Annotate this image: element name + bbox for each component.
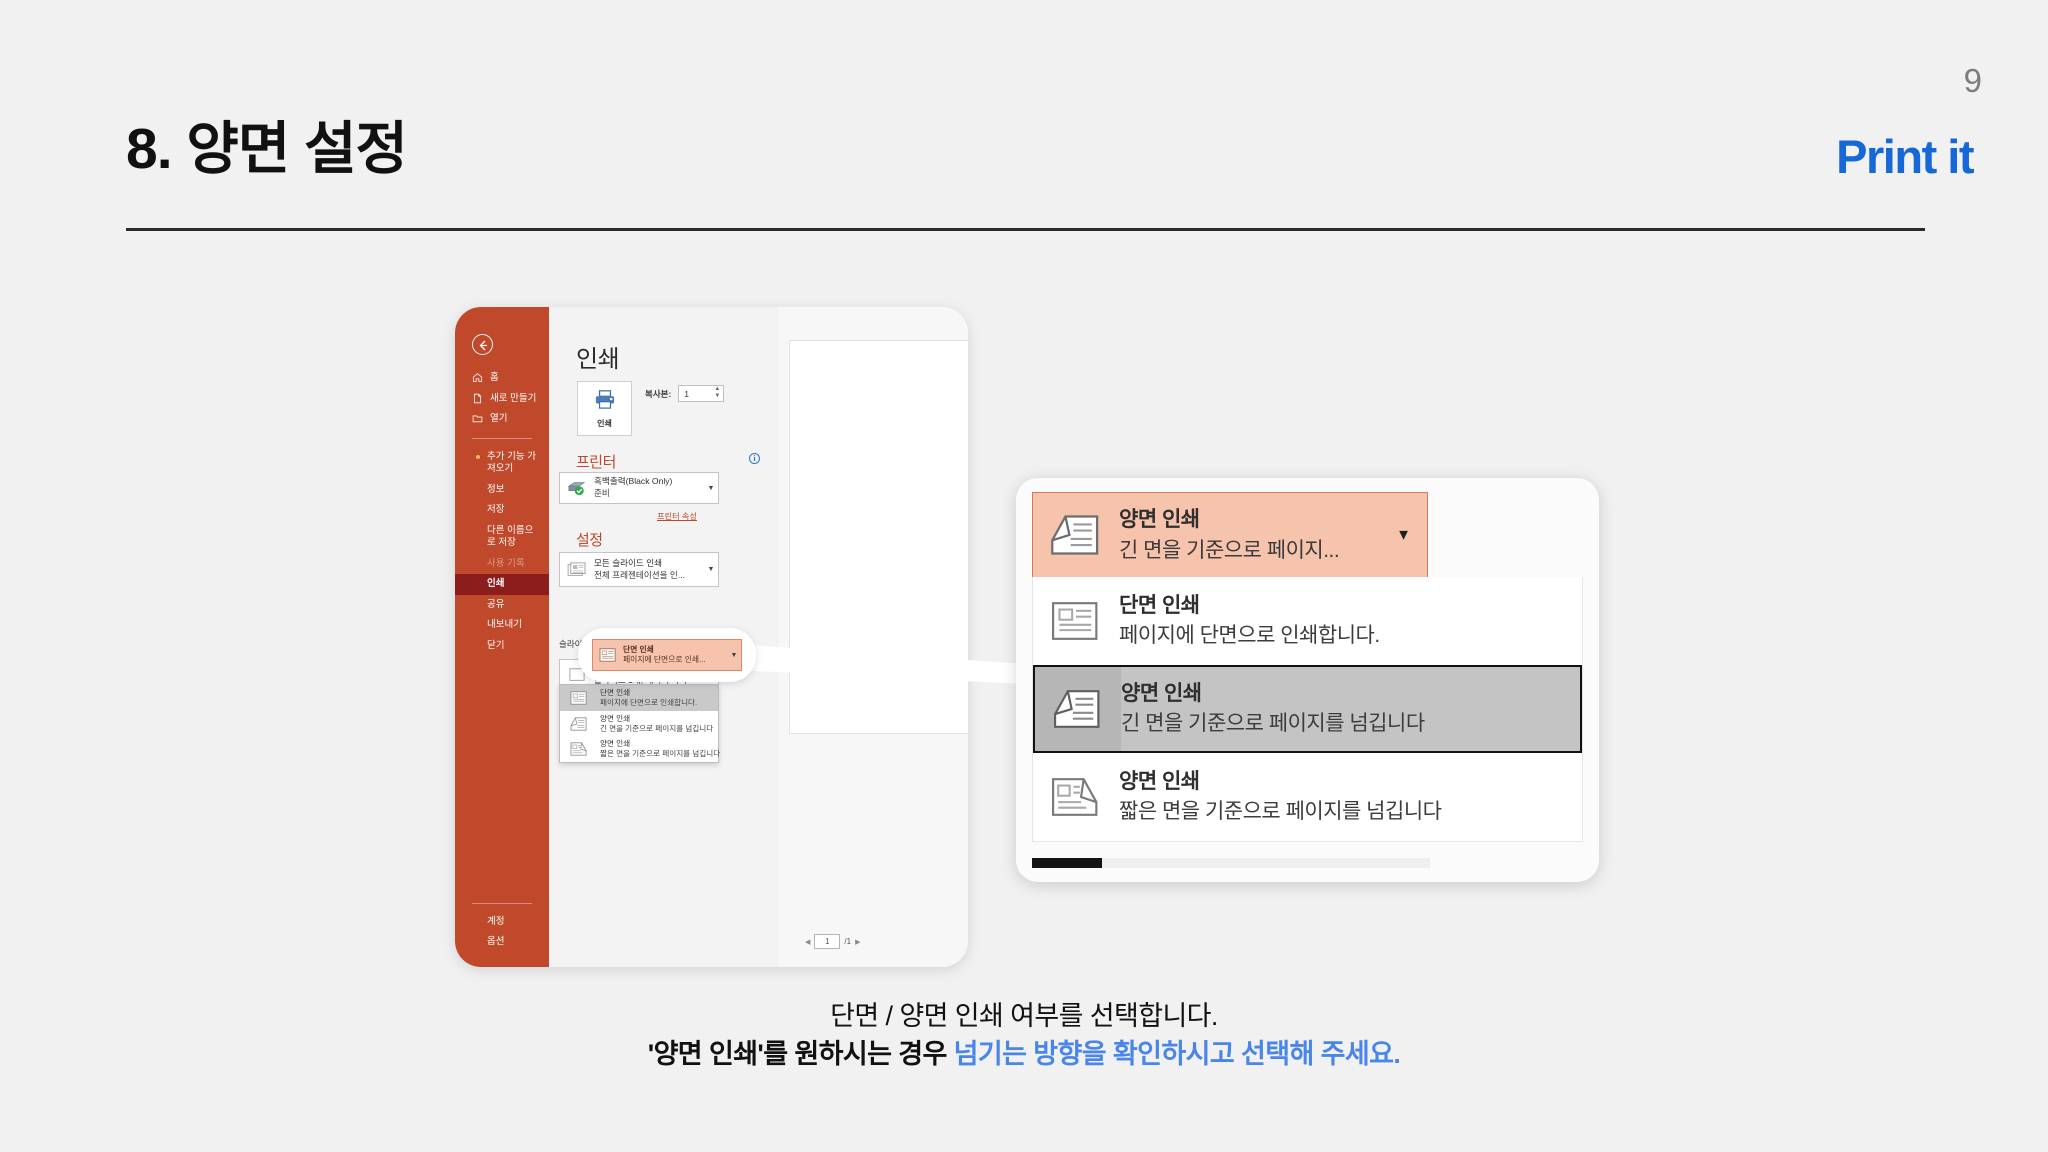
stepper-arrows-icon[interactable]: ▲▼: [714, 387, 720, 399]
horizontal-scrollbar[interactable]: [1032, 858, 1430, 868]
sidebar-item-label: 사용 기록: [487, 558, 525, 571]
print-range-select[interactable]: 모든 슬라이드 인쇄 전체 프레젠테이션을 인... ▼: [559, 552, 719, 587]
printer-section-heading: 프린터: [576, 451, 616, 472]
printer-icon: [594, 389, 616, 414]
prev-page-icon[interactable]: ◀: [805, 938, 810, 946]
option-title: 양면 인쇄: [600, 714, 713, 724]
sidebar-item-home[interactable]: 홈: [455, 368, 549, 389]
option-desc: 긴 면을 기준으로 페이지를 넘깁니다: [600, 724, 713, 734]
option-desc: 페이지에 단면으로 인쇄합니다.: [600, 698, 697, 708]
sidebar-item-label: 홈: [490, 372, 499, 385]
page-number: 9: [1964, 62, 1982, 100]
sidebar-item-label: 닫기: [487, 640, 504, 653]
sidebar-item-label: 추가 기능 가져오기: [487, 451, 540, 476]
print-range-line2: 전체 프레젠테이션을 인...: [594, 570, 700, 582]
option-desc: 긴 면을 기준으로 페이지를 넘깁니다: [1121, 709, 1425, 739]
sidebar-item-open[interactable]: 열기: [455, 409, 549, 430]
sidebar-item-new[interactable]: 새로 만들기: [455, 389, 549, 410]
printer-device-icon: [560, 479, 594, 497]
sidebar-item-print[interactable]: 인쇄: [455, 574, 549, 595]
sidebar-item-label: 새로 만들기: [490, 393, 536, 406]
print-heading: 인쇄: [576, 339, 619, 374]
preview-pager: ◀ 1 /1 ▶: [805, 934, 860, 949]
print-button[interactable]: 인쇄: [577, 381, 632, 436]
copies-value: 1: [684, 389, 689, 399]
scrollbar-thumb[interactable]: [1032, 858, 1102, 868]
home-icon: [472, 372, 483, 384]
sidebar-item-label: 내보내기: [487, 619, 522, 632]
printer-name: 흑백출력(Black Only): [594, 476, 700, 488]
chevron-down-icon[interactable]: ▼: [704, 485, 718, 492]
title-divider: [126, 228, 1925, 231]
settings-section-heading: 설정: [576, 529, 603, 550]
caption-line-2-blue: 넘기는 방향을 확인하시고 선택해 주세요.: [954, 1039, 1401, 1069]
sidebar-divider-bottom: [472, 903, 532, 904]
simplex-icon: [593, 647, 623, 663]
copies-label: 복사본:: [645, 388, 671, 400]
duplex-current-line2: 페이지에 단면으로 인쇄...: [623, 655, 727, 665]
sidebar-item-label: 정보: [487, 484, 504, 497]
copies-stepper[interactable]: 1 ▲▼: [678, 385, 724, 402]
print-preview-area: ◀ 1 /1 ▶: [779, 307, 968, 967]
printer-select[interactable]: 흑백출력(Black Only) 준비 ▼: [559, 472, 719, 504]
simplex-icon: [564, 690, 594, 706]
zoom-callout-panel: 양면 인쇄 긴 면을 기준으로 페이지... ▼ 단면 인쇄 페이지에 단면으로…: [1016, 478, 1599, 882]
sidebar-item-history[interactable]: 사용 기록: [455, 554, 549, 575]
duplex-options-list: 단면 인쇄 페이지에 단면으로 인쇄합니다. 양면 인쇄 긴 면을 기준으로 페…: [1032, 577, 1583, 842]
duplex-current-line1: 단면 인쇄: [623, 645, 727, 655]
sidebar-item-account[interactable]: 계정: [455, 912, 549, 933]
sidebar-item-options[interactable]: 옵션: [455, 932, 549, 953]
brand-logo: Print it: [1836, 133, 1973, 180]
sidebar-item-close[interactable]: 닫기: [455, 636, 549, 657]
option-desc: 짧은 면을 기준으로 페이지를 넘깁니다: [1119, 797, 1441, 827]
duplex-option-short-edge[interactable]: 양면 인쇄 짧은 면을 기준으로 페이지를 넘깁니다: [560, 736, 718, 762]
duplex-option-simplex[interactable]: 단면 인쇄 페이지에 단면으로 인쇄합니다.: [560, 685, 718, 711]
sidebar-item-label: 옵션: [487, 936, 504, 949]
printer-info-icon[interactable]: i: [749, 453, 760, 464]
sidebar-item-export[interactable]: 내보내기: [455, 615, 549, 636]
chevron-down-icon[interactable]: ▼: [1396, 527, 1411, 544]
duplex-short-edge-icon: [1033, 774, 1119, 820]
next-page-icon[interactable]: ▶: [855, 938, 860, 946]
back-arrow-icon[interactable]: [472, 334, 493, 355]
option-title: 양면 인쇄: [1121, 679, 1425, 709]
sidebar-item-save[interactable]: 저장: [455, 500, 549, 521]
new-document-icon: [472, 393, 483, 405]
mini-highlight-bubble: 단면 인쇄 페이지에 단면으로 인쇄... ▼: [578, 628, 756, 682]
sidebar-item-info[interactable]: 정보: [455, 480, 549, 501]
option-title: 단면 인쇄: [1119, 591, 1380, 621]
sidebar-nav-list: 홈 새로 만들기 열기 추가 기능 가져오기 정보: [455, 368, 549, 656]
copies-row: 복사본: 1 ▲▼: [645, 385, 724, 402]
duplex-short-edge-icon: [564, 741, 594, 757]
open-folder-icon: [472, 413, 483, 425]
sidebar-item-label: 공유: [487, 599, 504, 612]
total-pages-label: /1: [844, 937, 851, 946]
sidebar-item-label: 다른 이름으로 저장: [487, 525, 540, 550]
chevron-down-icon[interactable]: ▼: [727, 652, 741, 659]
printer-status: 준비: [594, 488, 700, 500]
sidebar-item-share[interactable]: 공유: [455, 595, 549, 616]
print-button-label: 인쇄: [597, 418, 612, 429]
sidebar-item-label: 계정: [487, 916, 504, 929]
selected-value-desc: 긴 면을 기준으로 페이지...: [1119, 535, 1427, 567]
sidebar-nav-bottom: 계정 옵션: [455, 895, 549, 953]
option-desc: 페이지에 단면으로 인쇄합니다.: [1119, 621, 1380, 651]
printer-properties-link[interactable]: 프린터 속성: [657, 510, 697, 522]
slide-caption: 단면 / 양면 인쇄 여부를 선택합니다. '양면 인쇄'를 원하시는 경우 넘…: [0, 998, 2048, 1074]
duplex-select-value[interactable]: 양면 인쇄 긴 면을 기준으로 페이지... ▼: [1032, 492, 1428, 578]
duplex-long-edge-icon: [1033, 511, 1119, 559]
callout-option-simplex[interactable]: 단면 인쇄 페이지에 단면으로 인쇄합니다.: [1033, 577, 1582, 665]
caption-line-2-black: '양면 인쇄'를 원하시는 경우: [648, 1039, 954, 1069]
simplex-icon: [1033, 598, 1119, 644]
option-desc: 짧은 면을 기준으로 페이지를 넘깁니다: [600, 749, 720, 759]
caption-line-2: '양면 인쇄'를 원하시는 경우 넘기는 방향을 확인하시고 선택해 주세요.: [0, 1036, 2048, 1074]
option-title: 양면 인쇄: [1119, 767, 1441, 797]
chevron-down-icon[interactable]: ▼: [704, 566, 718, 573]
callout-option-long-edge[interactable]: 양면 인쇄 긴 면을 기준으로 페이지를 넘깁니다: [1033, 665, 1582, 753]
selected-value-title: 양면 인쇄: [1119, 504, 1427, 536]
duplex-option-long-edge[interactable]: 양면 인쇄 긴 면을 기준으로 페이지를 넘깁니다: [560, 711, 718, 737]
duplex-select-highlighted[interactable]: 단면 인쇄 페이지에 단면으로 인쇄... ▼: [592, 639, 742, 671]
option-title: 단면 인쇄: [600, 688, 697, 698]
sidebar-item-save-as[interactable]: 다른 이름으로 저장: [455, 521, 549, 554]
current-page-input[interactable]: 1: [814, 934, 840, 949]
option-title: 양면 인쇄: [600, 739, 720, 749]
page-title: 8. 양면 설정: [126, 121, 407, 178]
sidebar-item-label: 인쇄: [487, 578, 504, 591]
duplex-long-edge-icon: [564, 716, 594, 732]
all-slides-icon: [560, 562, 594, 578]
callout-connector: [735, 640, 1025, 684]
caption-line-1: 단면 / 양면 인쇄 여부를 선택합니다.: [0, 998, 2048, 1036]
sidebar-item-label: 열기: [490, 413, 507, 426]
duplex-long-edge-icon: [1035, 667, 1121, 751]
sidebar-item-label: 저장: [487, 504, 504, 517]
print-range-line1: 모든 슬라이드 인쇄: [594, 558, 700, 570]
callout-option-short-edge[interactable]: 양면 인쇄 짧은 면을 기준으로 페이지를 넘깁니다: [1033, 753, 1582, 841]
sidebar-divider-top: [472, 438, 532, 439]
sidebar-item-get-addins[interactable]: 추가 기능 가져오기: [455, 447, 549, 480]
backstage-sidebar: 홈 새로 만들기 열기 추가 기능 가져오기 정보: [455, 307, 549, 967]
duplex-dropdown-list: 단면 인쇄 페이지에 단면으로 인쇄합니다. 양면 인쇄 긴 면을 기준으로 페…: [559, 684, 719, 763]
